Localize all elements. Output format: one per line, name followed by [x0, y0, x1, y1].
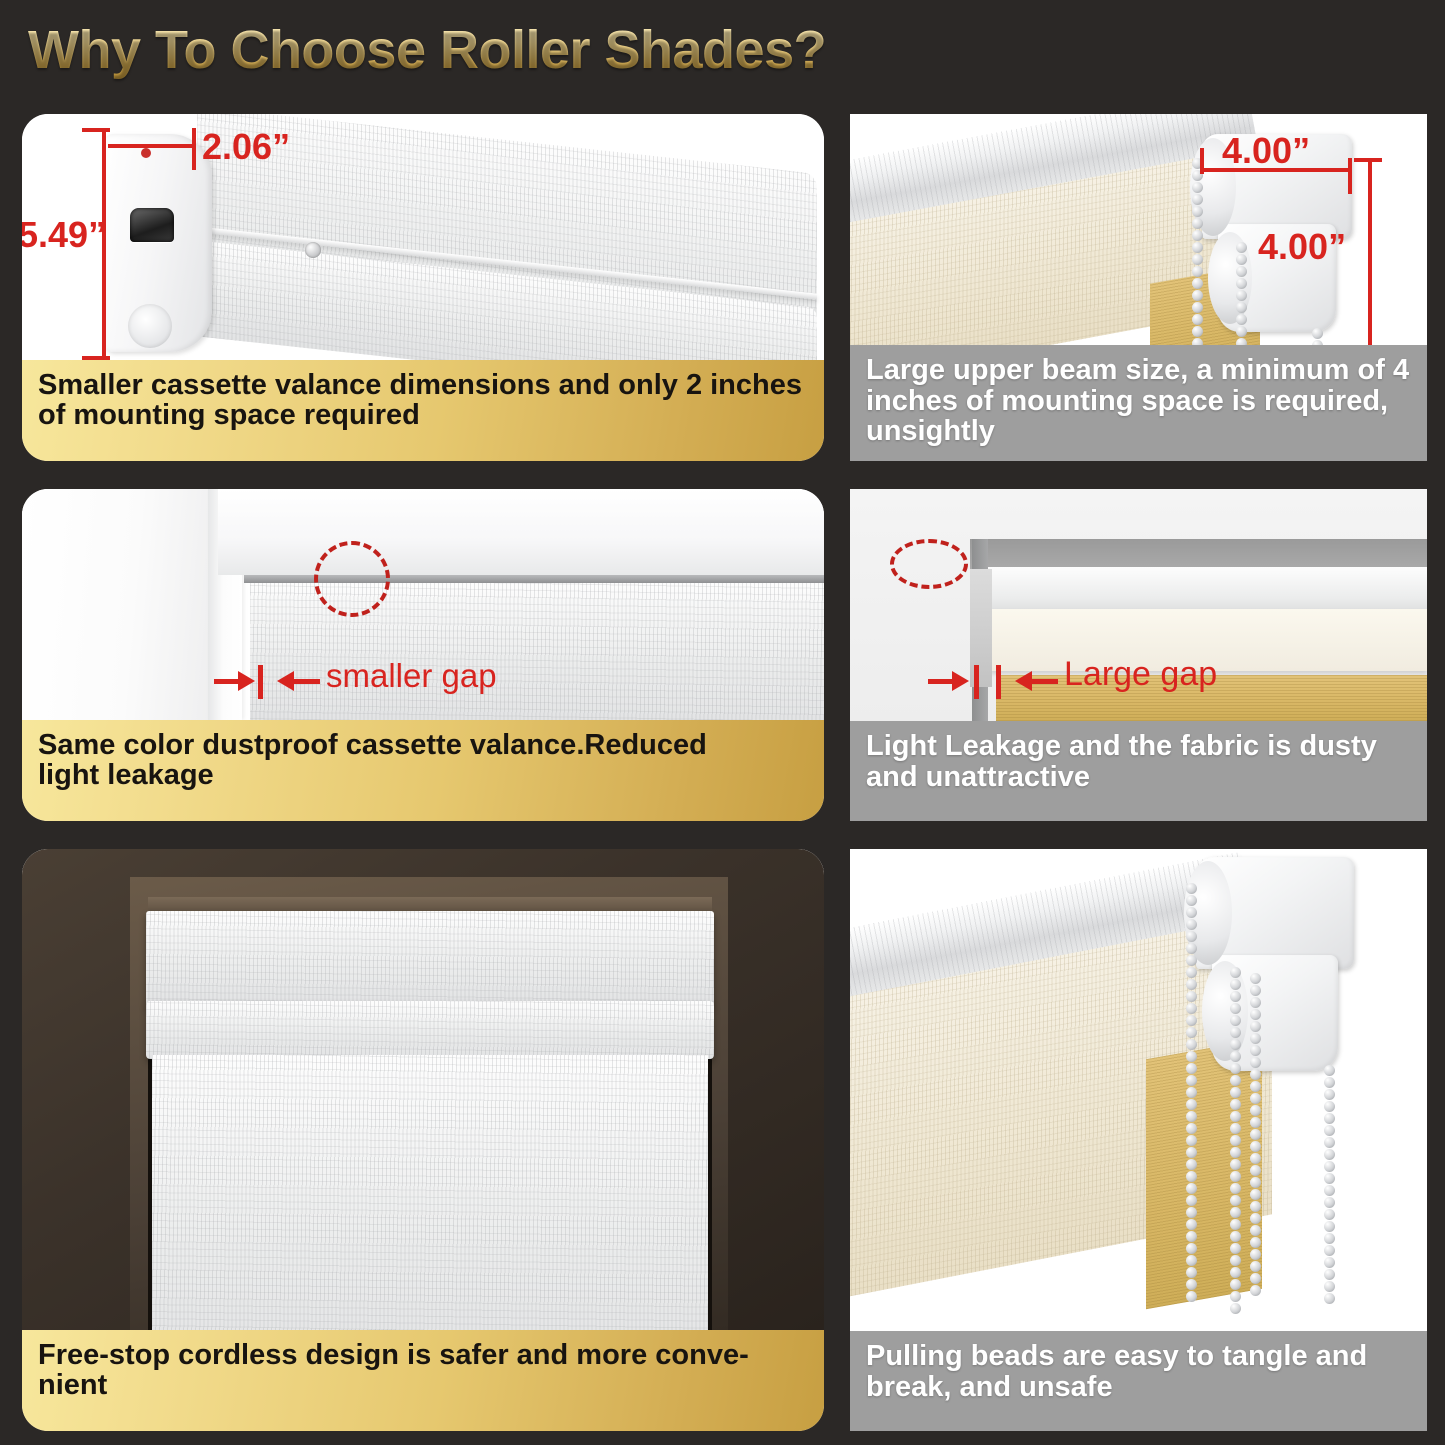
shade-fabric-back [1146, 1039, 1262, 1309]
gap-arrow-left-shaft [928, 679, 954, 684]
gap-marker-bar-left [974, 665, 979, 699]
large-upper-beam-photo: 4.00” 4.00” [850, 114, 1427, 345]
bead-chain-middle [1230, 967, 1241, 1315]
caption-line-1: Same color dustproof cassette valance.Re… [38, 729, 707, 761]
valance-lower-rail [146, 1001, 714, 1059]
cell-light-leakage: Large gap Light Leakage and the fabric i… [846, 475, 1445, 835]
window-head-jamb [218, 489, 824, 575]
caption-pulling-beads: Pulling beads are easy to tangle and bre… [850, 1331, 1427, 1431]
bead-chain-left [1186, 883, 1197, 1303]
caption-line-1: Free-stop cordless design is safer and m… [38, 1339, 749, 1371]
bracket-wheel-lower [1202, 961, 1248, 1061]
beam-width-tick-right [1348, 158, 1352, 194]
gap-arrow-right-shaft [294, 679, 320, 684]
caption-cordless-design: Free-stop cordless design is safer and m… [22, 1330, 824, 1431]
bead-chain-right [1312, 328, 1323, 345]
bead-chain-left [1192, 158, 1203, 345]
gap-highlight-circle [314, 541, 390, 617]
panel-light-leakage: Large gap Light Leakage and the fabric i… [850, 489, 1427, 821]
bead-chain-middle [1236, 242, 1247, 345]
gap-arrow-right-head [277, 671, 294, 691]
cassette-valance-photo: 2.06” 5.49” [22, 114, 824, 360]
beam-width-tick-left [1200, 148, 1204, 174]
panel-large-upper-beam: 4.00” 4.00” Large upper beam size, a min… [850, 114, 1427, 461]
cell-large-upper-beam: 4.00” 4.00” Large upper beam size, a min… [846, 100, 1445, 475]
height-dimension-label: 5.49” [22, 214, 106, 256]
panel-cordless-design: Free-stop cordless design is safer and m… [22, 849, 824, 1431]
cell-cordless-design: Free-stop cordless design is safer and m… [0, 835, 846, 1445]
height-dimension-tick-top [82, 128, 110, 132]
page-title: Why To Choose Roller Shades? [28, 19, 826, 81]
large-gap-label: Large gap [1064, 655, 1217, 694]
header: Why To Choose Roller Shades? [0, 0, 1445, 100]
width-dimension-tick-right [192, 128, 196, 170]
width-dimension-line [108, 144, 194, 148]
smaller-gap-label: smaller gap [326, 657, 497, 695]
panel-pulling-beads: Pulling beads are easy to tangle and bre… [850, 849, 1427, 1431]
gap-arrow-right-head [1015, 671, 1032, 691]
valance-screw [305, 242, 321, 258]
valance-dial [128, 304, 172, 348]
cell-cassette-valance: 2.06” 5.49” Smaller cassette valance dim… [0, 100, 846, 475]
gap-arrow-left-head [952, 671, 969, 691]
dimension-origin-dot [141, 148, 151, 158]
width-dimension-label: 2.06” [202, 126, 290, 168]
gap-arrow-left-head [238, 671, 255, 691]
caption-line-2: nient [38, 1369, 107, 1401]
beam-height-label: 4.00” [1258, 226, 1346, 268]
beam-height-line [1368, 158, 1372, 345]
bead-chain-middle-2 [1250, 973, 1261, 1297]
cell-dustproof-valance: smaller gap Same color dustproof cassett… [0, 475, 846, 835]
caption-light-leakage: Light Leakage and the fabric is dusty an… [850, 721, 1427, 821]
window-frame-left [22, 489, 222, 720]
gap-highlight-circle [890, 539, 968, 589]
beam-width-label: 4.00” [1222, 130, 1310, 172]
panel-cassette-valance: 2.06” 5.49” Smaller cassette valance dim… [22, 114, 824, 461]
gap-marker-bar-right [996, 665, 1001, 699]
caption-dustproof-valance: Same color dustproof cassette valance.Re… [22, 720, 824, 821]
dustproof-valance-photo: smaller gap [22, 489, 824, 720]
cordless-design-photo [22, 849, 824, 1330]
valance-slot [130, 208, 174, 242]
gap-arrow-left-shaft [214, 679, 240, 684]
caption-large-upper-beam: Large upper beam size, a minimum of 4 in… [850, 345, 1427, 461]
caption-line-2: light leakage [38, 759, 214, 791]
gap-marker-bar [258, 665, 263, 699]
beam-height-tick-top [1354, 158, 1382, 162]
comparison-grid: 2.06” 5.49” Smaller cassette valance dim… [0, 100, 1445, 1445]
panel-dustproof-valance: smaller gap Same color dustproof cassett… [22, 489, 824, 821]
bead-chain-right [1324, 1065, 1335, 1305]
gap-arrow-right-shaft [1032, 679, 1058, 684]
pulling-beads-photo [850, 849, 1427, 1331]
cell-pulling-beads: Pulling beads are easy to tangle and bre… [846, 835, 1445, 1445]
light-leakage-photo: Large gap [850, 489, 1427, 721]
shade-fabric [152, 1055, 708, 1330]
height-dimension-tick-bottom [82, 356, 110, 360]
caption-cassette-valance: Smaller cassette valance dimensions and … [22, 360, 824, 461]
cassette-valance [146, 911, 714, 1006]
